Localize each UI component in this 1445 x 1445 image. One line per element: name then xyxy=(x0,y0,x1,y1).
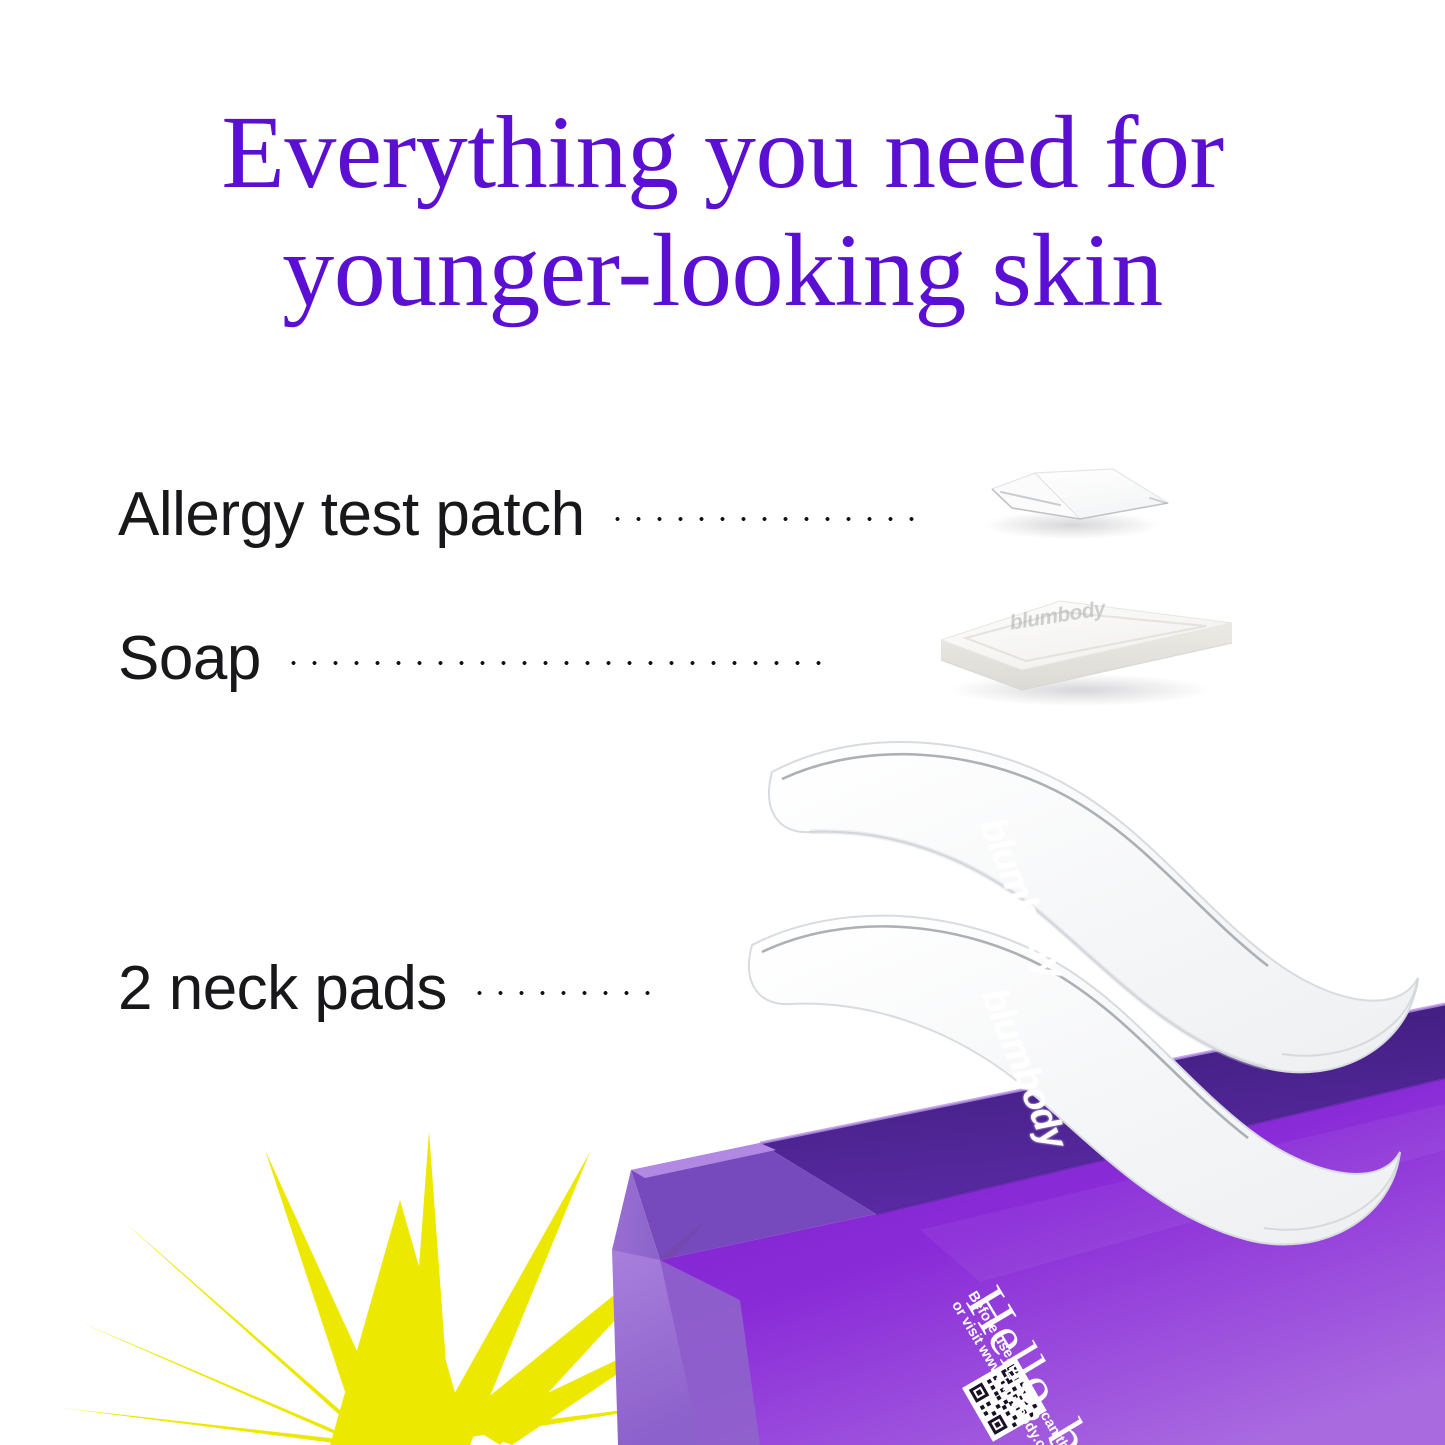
dotted-leader xyxy=(607,515,923,523)
headline-line-2: younger-looking skin xyxy=(0,212,1445,330)
list-item: Soap xyxy=(118,623,833,694)
dotted-leader xyxy=(283,659,833,667)
checklist-label-allergy-test-patch: Allergy test patch xyxy=(118,479,585,550)
list-item: Allergy test patch xyxy=(118,479,923,550)
list-item: 2 neck pads xyxy=(118,953,659,1024)
neck-pad-upper xyxy=(769,742,1418,1072)
dotted-leader xyxy=(469,989,659,997)
checklist-label-neck-pads: 2 neck pads xyxy=(118,953,447,1024)
neck-pad-brand-wordmark-upper: blumbody xyxy=(971,812,1073,984)
neck-pad-brand-wordmark-lower: blumbody xyxy=(973,982,1075,1154)
sunburst-icon xyxy=(62,1131,710,1445)
soap-brand-wordmark: blumbody xyxy=(1008,597,1107,636)
product-feature-image: Everything you need for younger-looking … xyxy=(0,0,1445,1445)
page-title: Everything you need for younger-looking … xyxy=(0,94,1445,330)
headline-line-1: Everything you need for xyxy=(0,94,1445,212)
checklist-label-soap: Soap xyxy=(118,623,261,694)
neck-pad-lower xyxy=(749,916,1400,1245)
allergy-test-patch-product xyxy=(984,469,1168,539)
